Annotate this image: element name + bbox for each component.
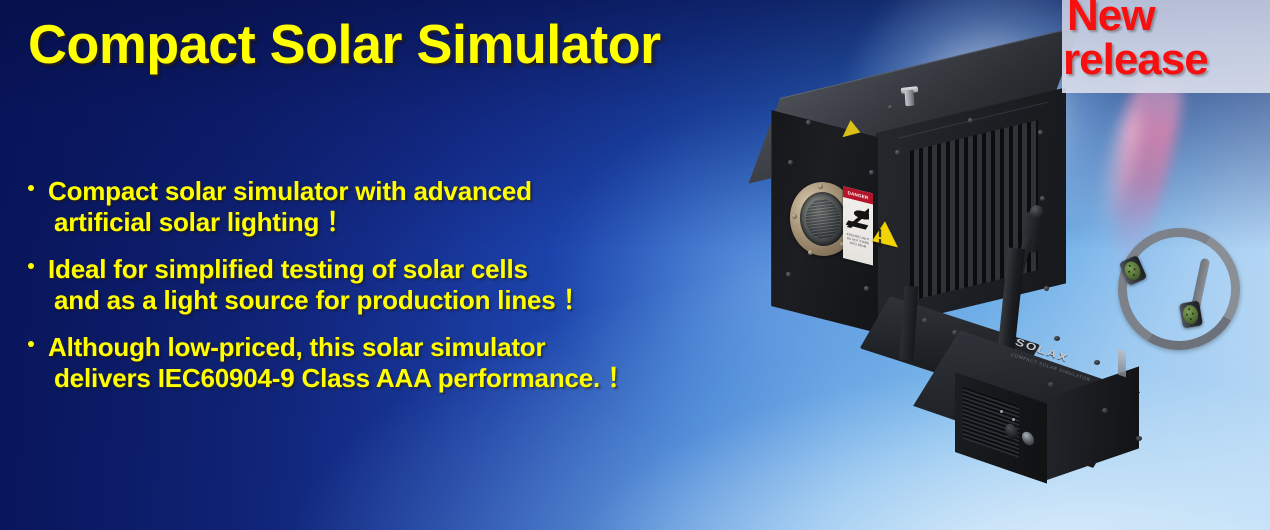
housing-screw [1040,196,1045,201]
power-supply-bolt [1054,336,1060,341]
bullet-line: delivers IEC60904-9 Class AAA performanc… [48,363,726,394]
housing-screw [788,160,793,165]
product-banner: DANGER INTENSE LIGHT DO NOT STARE INTO B… [0,0,1270,530]
list-item: Ideal for simplified testing of solar ce… [26,254,726,316]
bullet-line: Although low-priced, this solar simulato… [48,332,726,363]
power-cable [1105,215,1253,363]
feature-bullet-list: Compact solar simulator with advanced ar… [26,176,726,394]
connector-pin [1128,270,1131,273]
housing-screw [786,272,791,277]
danger-label-fine-print: INTENSE LIGHT DO NOT STARE INTO BEAM [845,231,871,249]
connector-pin [1133,268,1136,271]
power-supply-bolt [1048,382,1054,387]
power-supply-rating-label [1118,349,1126,378]
connector-pin [1190,318,1193,321]
badge-line-2: release [1063,38,1208,82]
housing-screw [888,105,893,110]
housing-screw [1038,130,1043,135]
connector-pin [1186,314,1189,317]
page-title: Compact Solar Simulator [28,16,661,74]
connector-pin [1133,274,1136,277]
base-plate-bolt [922,318,928,323]
danger-pictogram [847,203,869,232]
flange-bolt [792,214,797,219]
flange-bolt [808,250,813,255]
housing-screw [968,118,973,123]
tilt-clamp-knob [1030,205,1043,218]
bullet-dot-icon [28,341,34,347]
danger-label: DANGER INTENSE LIGHT DO NOT STARE INTO B… [843,186,873,265]
housing-screw [864,286,869,291]
power-supply-bolt [1102,408,1108,413]
connector-face [1181,304,1199,325]
bullet-line: Compact solar simulator with advanced [48,176,726,207]
housing-screw [869,170,874,175]
flange-bolt [818,184,823,189]
bullet-line: artificial solar lighting ！ [48,207,726,238]
new-release-badge: New release [1062,0,1270,93]
power-supply-bolt [1136,436,1142,441]
top-fitting [904,90,914,107]
housing-screw [1044,286,1049,291]
power-supply-indicator [1012,418,1015,421]
housing-screw [895,150,900,155]
badge-line-1: New [1067,0,1154,38]
connector-pin [1188,308,1191,311]
housing-screw [806,120,811,125]
connector-pin [1192,312,1195,315]
bullet-line: and as a light source for production lin… [48,285,726,316]
list-item: Compact solar simulator with advanced ar… [26,176,726,238]
connector-pin [1129,264,1132,267]
power-supply-indicator [1000,410,1003,413]
power-supply-bolt [1094,360,1100,365]
bullet-line: Ideal for simplified testing of solar ce… [48,254,726,285]
cable-connector [1179,300,1203,328]
power-supply-vent-grille [963,387,1019,458]
bullet-dot-icon [28,185,34,191]
bullet-dot-icon [28,263,34,269]
list-item: Although low-priced, this solar simulato… [26,332,726,394]
connector-face [1122,259,1143,282]
